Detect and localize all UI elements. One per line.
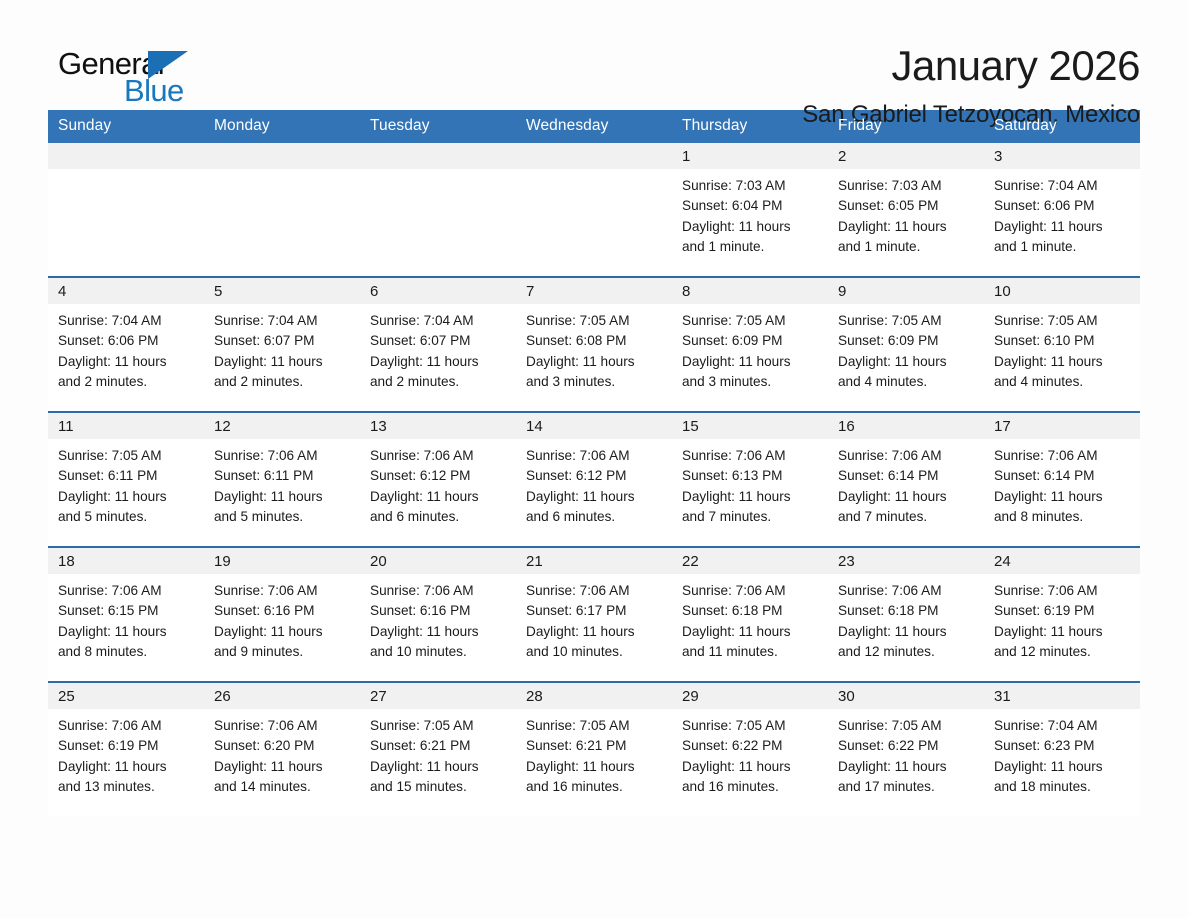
sunrise-time: Sunrise: 7:06 AM (214, 716, 352, 736)
daylight-duration-line2: and 12 minutes. (994, 642, 1132, 662)
calendar-day-cell[interactable]: 15Sunrise: 7:06 AMSunset: 6:13 PMDayligh… (672, 412, 828, 547)
day-details: Sunrise: 7:05 AMSunset: 6:10 PMDaylight:… (984, 304, 1140, 411)
daylight-duration-line2: and 11 minutes. (682, 642, 820, 662)
calendar-day-cell[interactable]: 10Sunrise: 7:05 AMSunset: 6:10 PMDayligh… (984, 277, 1140, 412)
weekday-header-monday: Monday (204, 110, 360, 143)
calendar-day-cell[interactable]: 14Sunrise: 7:06 AMSunset: 6:12 PMDayligh… (516, 412, 672, 547)
daylight-duration-line2: and 12 minutes. (838, 642, 976, 662)
daylight-duration-line1: Daylight: 11 hours (682, 217, 820, 237)
sunset-time: Sunset: 6:16 PM (370, 601, 508, 621)
day-number: 21 (516, 548, 672, 574)
sunrise-time: Sunrise: 7:05 AM (838, 311, 976, 331)
day-number: 22 (672, 548, 828, 574)
daylight-duration-line2: and 5 minutes. (214, 507, 352, 527)
day-details: Sunrise: 7:06 AMSunset: 6:15 PMDaylight:… (48, 574, 204, 681)
day-details: Sunrise: 7:06 AMSunset: 6:12 PMDaylight:… (516, 439, 672, 546)
day-number: 14 (516, 413, 672, 439)
sunset-time: Sunset: 6:20 PM (214, 736, 352, 756)
day-details: Sunrise: 7:05 AMSunset: 6:09 PMDaylight:… (828, 304, 984, 411)
daylight-duration-line1: Daylight: 11 hours (214, 757, 352, 777)
day-number: 17 (984, 413, 1140, 439)
sunset-time: Sunset: 6:07 PM (370, 331, 508, 351)
day-number: 26 (204, 683, 360, 709)
calendar-day-cell[interactable]: 12Sunrise: 7:06 AMSunset: 6:11 PMDayligh… (204, 412, 360, 547)
weekday-header-sunday: Sunday (48, 110, 204, 143)
calendar-day-cell[interactable]: 23Sunrise: 7:06 AMSunset: 6:18 PMDayligh… (828, 547, 984, 682)
day-number: 29 (672, 683, 828, 709)
day-details (360, 169, 516, 276)
day-details: Sunrise: 7:05 AMSunset: 6:22 PMDaylight:… (672, 709, 828, 816)
daylight-duration-line2: and 2 minutes. (214, 372, 352, 392)
daylight-duration-line2: and 10 minutes. (370, 642, 508, 662)
day-number: 16 (828, 413, 984, 439)
daylight-duration-line2: and 18 minutes. (994, 777, 1132, 797)
sunset-time: Sunset: 6:14 PM (994, 466, 1132, 486)
sunrise-time: Sunrise: 7:04 AM (58, 311, 196, 331)
day-number: 3 (984, 143, 1140, 169)
calendar-day-cell[interactable]: 30Sunrise: 7:05 AMSunset: 6:22 PMDayligh… (828, 682, 984, 816)
sunset-time: Sunset: 6:12 PM (526, 466, 664, 486)
calendar-day-cell[interactable]: 17Sunrise: 7:06 AMSunset: 6:14 PMDayligh… (984, 412, 1140, 547)
sunset-time: Sunset: 6:11 PM (214, 466, 352, 486)
day-details: Sunrise: 7:06 AMSunset: 6:19 PMDaylight:… (48, 709, 204, 816)
daylight-duration-line1: Daylight: 11 hours (370, 352, 508, 372)
day-details: Sunrise: 7:06 AMSunset: 6:18 PMDaylight:… (672, 574, 828, 681)
day-details: Sunrise: 7:04 AMSunset: 6:07 PMDaylight:… (204, 304, 360, 411)
day-number: 24 (984, 548, 1140, 574)
sunset-time: Sunset: 6:10 PM (994, 331, 1132, 351)
sunset-time: Sunset: 6:04 PM (682, 196, 820, 216)
sunrise-time: Sunrise: 7:06 AM (526, 446, 664, 466)
sunset-time: Sunset: 6:08 PM (526, 331, 664, 351)
calendar-body: 1Sunrise: 7:03 AMSunset: 6:04 PMDaylight… (48, 143, 1140, 816)
calendar-day-cell[interactable]: 31Sunrise: 7:04 AMSunset: 6:23 PMDayligh… (984, 682, 1140, 816)
daylight-duration-line1: Daylight: 11 hours (838, 757, 976, 777)
daylight-duration-line2: and 2 minutes. (58, 372, 196, 392)
day-number: 1 (672, 143, 828, 169)
sunrise-time: Sunrise: 7:06 AM (682, 581, 820, 601)
sunrise-time: Sunrise: 7:06 AM (214, 446, 352, 466)
sunrise-time: Sunrise: 7:05 AM (58, 446, 196, 466)
day-details: Sunrise: 7:06 AMSunset: 6:14 PMDaylight:… (828, 439, 984, 546)
daylight-duration-line1: Daylight: 11 hours (214, 487, 352, 507)
daylight-duration-line1: Daylight: 11 hours (994, 622, 1132, 642)
day-number: 18 (48, 548, 204, 574)
sunrise-time: Sunrise: 7:06 AM (682, 446, 820, 466)
daylight-duration-line2: and 15 minutes. (370, 777, 508, 797)
daylight-duration-line1: Daylight: 11 hours (838, 622, 976, 642)
daylight-duration-line1: Daylight: 11 hours (526, 757, 664, 777)
sunrise-time: Sunrise: 7:04 AM (370, 311, 508, 331)
daylight-duration-line2: and 6 minutes. (526, 507, 664, 527)
day-details: Sunrise: 7:05 AMSunset: 6:21 PMDaylight:… (516, 709, 672, 816)
day-details: Sunrise: 7:06 AMSunset: 6:16 PMDaylight:… (204, 574, 360, 681)
calendar-week-row: 4Sunrise: 7:04 AMSunset: 6:06 PMDaylight… (48, 277, 1140, 412)
sunset-time: Sunset: 6:07 PM (214, 331, 352, 351)
daylight-duration-line2: and 8 minutes. (58, 642, 196, 662)
sunrise-time: Sunrise: 7:05 AM (994, 311, 1132, 331)
day-number: 25 (48, 683, 204, 709)
day-details: Sunrise: 7:04 AMSunset: 6:23 PMDaylight:… (984, 709, 1140, 816)
sunrise-time: Sunrise: 7:04 AM (994, 716, 1132, 736)
sunrise-time: Sunrise: 7:03 AM (838, 176, 976, 196)
day-number: 28 (516, 683, 672, 709)
daylight-duration-line1: Daylight: 11 hours (370, 487, 508, 507)
day-number: 7 (516, 278, 672, 304)
calendar-day-cell[interactable]: 21Sunrise: 7:06 AMSunset: 6:17 PMDayligh… (516, 547, 672, 682)
calendar-day-cell[interactable]: 22Sunrise: 7:06 AMSunset: 6:18 PMDayligh… (672, 547, 828, 682)
daylight-duration-line2: and 17 minutes. (838, 777, 976, 797)
sunset-time: Sunset: 6:21 PM (526, 736, 664, 756)
daylight-duration-line1: Daylight: 11 hours (682, 352, 820, 372)
day-details: Sunrise: 7:05 AMSunset: 6:22 PMDaylight:… (828, 709, 984, 816)
calendar-page: General Blue January 2026 San Gabriel Te… (0, 0, 1188, 918)
sunset-time: Sunset: 6:13 PM (682, 466, 820, 486)
daylight-duration-line2: and 16 minutes. (682, 777, 820, 797)
daylight-duration-line1: Daylight: 11 hours (526, 487, 664, 507)
calendar-day-cell[interactable]: 7Sunrise: 7:05 AMSunset: 6:08 PMDaylight… (516, 277, 672, 412)
calendar-day-cell[interactable]: 25Sunrise: 7:06 AMSunset: 6:19 PMDayligh… (48, 682, 204, 816)
sunrise-time: Sunrise: 7:04 AM (994, 176, 1132, 196)
daylight-duration-line1: Daylight: 11 hours (58, 622, 196, 642)
daylight-duration-line1: Daylight: 11 hours (526, 622, 664, 642)
sunrise-time: Sunrise: 7:06 AM (838, 446, 976, 466)
day-details: Sunrise: 7:05 AMSunset: 6:21 PMDaylight:… (360, 709, 516, 816)
day-number: 11 (48, 413, 204, 439)
sunrise-time: Sunrise: 7:03 AM (682, 176, 820, 196)
daylight-duration-line2: and 7 minutes. (838, 507, 976, 527)
sunset-time: Sunset: 6:22 PM (682, 736, 820, 756)
daylight-duration-line2: and 3 minutes. (526, 372, 664, 392)
daylight-duration-line2: and 7 minutes. (682, 507, 820, 527)
daylight-duration-line1: Daylight: 11 hours (370, 757, 508, 777)
daylight-duration-line2: and 4 minutes. (838, 372, 976, 392)
calendar-week-row: 11Sunrise: 7:05 AMSunset: 6:11 PMDayligh… (48, 412, 1140, 547)
calendar-day-cell[interactable]: 1Sunrise: 7:03 AMSunset: 6:04 PMDaylight… (672, 143, 828, 277)
sunrise-time: Sunrise: 7:05 AM (526, 716, 664, 736)
sunrise-time: Sunrise: 7:06 AM (994, 581, 1132, 601)
sunset-time: Sunset: 6:21 PM (370, 736, 508, 756)
day-details: Sunrise: 7:03 AMSunset: 6:04 PMDaylight:… (672, 169, 828, 276)
day-details: Sunrise: 7:04 AMSunset: 6:06 PMDaylight:… (984, 169, 1140, 276)
calendar-day-cell[interactable]: 4Sunrise: 7:04 AMSunset: 6:06 PMDaylight… (48, 277, 204, 412)
sunrise-time: Sunrise: 7:06 AM (370, 581, 508, 601)
sunset-time: Sunset: 6:12 PM (370, 466, 508, 486)
calendar-week-row: 1Sunrise: 7:03 AMSunset: 6:04 PMDaylight… (48, 143, 1140, 277)
sunrise-time: Sunrise: 7:04 AM (214, 311, 352, 331)
daylight-duration-line1: Daylight: 11 hours (214, 622, 352, 642)
calendar-day-cell[interactable]: 5Sunrise: 7:04 AMSunset: 6:07 PMDaylight… (204, 277, 360, 412)
calendar-day-cell[interactable]: 26Sunrise: 7:06 AMSunset: 6:20 PMDayligh… (204, 682, 360, 816)
calendar-day-cell[interactable]: 13Sunrise: 7:06 AMSunset: 6:12 PMDayligh… (360, 412, 516, 547)
calendar-day-cell[interactable]: 24Sunrise: 7:06 AMSunset: 6:19 PMDayligh… (984, 547, 1140, 682)
calendar-day-cell[interactable]: 16Sunrise: 7:06 AMSunset: 6:14 PMDayligh… (828, 412, 984, 547)
day-number: 13 (360, 413, 516, 439)
day-details: Sunrise: 7:04 AMSunset: 6:07 PMDaylight:… (360, 304, 516, 411)
day-details: Sunrise: 7:05 AMSunset: 6:09 PMDaylight:… (672, 304, 828, 411)
daylight-duration-line1: Daylight: 11 hours (58, 352, 196, 372)
sunrise-time: Sunrise: 7:06 AM (526, 581, 664, 601)
daylight-duration-line1: Daylight: 11 hours (214, 352, 352, 372)
day-number (516, 143, 672, 169)
sunset-time: Sunset: 6:06 PM (994, 196, 1132, 216)
daylight-duration-line2: and 2 minutes. (370, 372, 508, 392)
daylight-duration-line1: Daylight: 11 hours (58, 487, 196, 507)
day-details (516, 169, 672, 276)
daylight-duration-line2: and 5 minutes. (58, 507, 196, 527)
daylight-duration-line1: Daylight: 11 hours (682, 622, 820, 642)
day-details: Sunrise: 7:06 AMSunset: 6:17 PMDaylight:… (516, 574, 672, 681)
sunset-time: Sunset: 6:09 PM (838, 331, 976, 351)
sunset-time: Sunset: 6:18 PM (838, 601, 976, 621)
day-number: 31 (984, 683, 1140, 709)
calendar-day-cell[interactable]: 3Sunrise: 7:04 AMSunset: 6:06 PMDaylight… (984, 143, 1140, 277)
daylight-duration-line2: and 10 minutes. (526, 642, 664, 662)
daylight-duration-line1: Daylight: 11 hours (994, 487, 1132, 507)
day-number: 10 (984, 278, 1140, 304)
sunset-time: Sunset: 6:23 PM (994, 736, 1132, 756)
day-details: Sunrise: 7:05 AMSunset: 6:11 PMDaylight:… (48, 439, 204, 546)
daylight-duration-line2: and 9 minutes. (214, 642, 352, 662)
sunset-time: Sunset: 6:15 PM (58, 601, 196, 621)
page-title: January 2026 (802, 44, 1140, 88)
day-details: Sunrise: 7:05 AMSunset: 6:08 PMDaylight:… (516, 304, 672, 411)
sunrise-time: Sunrise: 7:05 AM (682, 716, 820, 736)
day-number: 15 (672, 413, 828, 439)
calendar-day-cell[interactable]: 8Sunrise: 7:05 AMSunset: 6:09 PMDaylight… (672, 277, 828, 412)
sunrise-time: Sunrise: 7:06 AM (58, 581, 196, 601)
daylight-duration-line2: and 1 minute. (838, 237, 976, 257)
calendar-day-cell[interactable]: 11Sunrise: 7:05 AMSunset: 6:11 PMDayligh… (48, 412, 204, 547)
sunrise-time: Sunrise: 7:05 AM (838, 716, 976, 736)
daylight-duration-line2: and 6 minutes. (370, 507, 508, 527)
sunset-time: Sunset: 6:11 PM (58, 466, 196, 486)
logo-text-blue: Blue (124, 75, 184, 106)
sunrise-time: Sunrise: 7:06 AM (214, 581, 352, 601)
day-details: Sunrise: 7:06 AMSunset: 6:16 PMDaylight:… (360, 574, 516, 681)
day-details: Sunrise: 7:06 AMSunset: 6:13 PMDaylight:… (672, 439, 828, 546)
calendar-day-cell[interactable]: 2Sunrise: 7:03 AMSunset: 6:05 PMDaylight… (828, 143, 984, 277)
sunset-time: Sunset: 6:09 PM (682, 331, 820, 351)
sunrise-sunset-calendar: Sunday Monday Tuesday Wednesday Thursday… (48, 110, 1140, 816)
day-number (48, 143, 204, 169)
day-number: 9 (828, 278, 984, 304)
sunrise-time: Sunrise: 7:05 AM (682, 311, 820, 331)
sunrise-time: Sunrise: 7:06 AM (838, 581, 976, 601)
sunrise-time: Sunrise: 7:06 AM (370, 446, 508, 466)
calendar-day-cell-empty (360, 143, 516, 277)
daylight-duration-line1: Daylight: 11 hours (994, 757, 1132, 777)
day-details: Sunrise: 7:06 AMSunset: 6:12 PMDaylight:… (360, 439, 516, 546)
day-details: Sunrise: 7:06 AMSunset: 6:11 PMDaylight:… (204, 439, 360, 546)
daylight-duration-line2: and 4 minutes. (994, 372, 1132, 392)
daylight-duration-line2: and 14 minutes. (214, 777, 352, 797)
daylight-duration-line1: Daylight: 11 hours (838, 487, 976, 507)
page-header: General Blue January 2026 San Gabriel Te… (48, 0, 1140, 108)
daylight-duration-line1: Daylight: 11 hours (994, 352, 1132, 372)
day-number: 2 (828, 143, 984, 169)
day-details: Sunrise: 7:06 AMSunset: 6:20 PMDaylight:… (204, 709, 360, 816)
daylight-duration-line1: Daylight: 11 hours (994, 217, 1132, 237)
daylight-duration-line1: Daylight: 11 hours (370, 622, 508, 642)
day-number: 20 (360, 548, 516, 574)
day-number: 8 (672, 278, 828, 304)
calendar-day-cell[interactable]: 20Sunrise: 7:06 AMSunset: 6:16 PMDayligh… (360, 547, 516, 682)
calendar-day-cell[interactable]: 18Sunrise: 7:06 AMSunset: 6:15 PMDayligh… (48, 547, 204, 682)
calendar-week-row: 25Sunrise: 7:06 AMSunset: 6:19 PMDayligh… (48, 682, 1140, 816)
calendar-day-cell[interactable]: 27Sunrise: 7:05 AMSunset: 6:21 PMDayligh… (360, 682, 516, 816)
sunset-time: Sunset: 6:05 PM (838, 196, 976, 216)
generalblue-logo[interactable]: General Blue (48, 44, 208, 114)
sunset-time: Sunset: 6:22 PM (838, 736, 976, 756)
weekday-header-wednesday: Wednesday (516, 110, 672, 143)
sunrise-time: Sunrise: 7:06 AM (994, 446, 1132, 466)
daylight-duration-line2: and 3 minutes. (682, 372, 820, 392)
sunset-time: Sunset: 6:06 PM (58, 331, 196, 351)
calendar-day-cell-empty (48, 143, 204, 277)
day-details (204, 169, 360, 276)
sunset-time: Sunset: 6:17 PM (526, 601, 664, 621)
calendar-week-row: 18Sunrise: 7:06 AMSunset: 6:15 PMDayligh… (48, 547, 1140, 682)
day-number: 4 (48, 278, 204, 304)
sunset-time: Sunset: 6:19 PM (994, 601, 1132, 621)
daylight-duration-line1: Daylight: 11 hours (58, 757, 196, 777)
sunrise-time: Sunrise: 7:05 AM (370, 716, 508, 736)
daylight-duration-line2: and 13 minutes. (58, 777, 196, 797)
calendar-day-cell-empty (204, 143, 360, 277)
calendar-day-cell[interactable]: 9Sunrise: 7:05 AMSunset: 6:09 PMDaylight… (828, 277, 984, 412)
day-details (48, 169, 204, 276)
daylight-duration-line1: Daylight: 11 hours (682, 487, 820, 507)
day-number: 6 (360, 278, 516, 304)
calendar-day-cell[interactable]: 6Sunrise: 7:04 AMSunset: 6:07 PMDaylight… (360, 277, 516, 412)
sunset-time: Sunset: 6:16 PM (214, 601, 352, 621)
daylight-duration-line2: and 16 minutes. (526, 777, 664, 797)
daylight-duration-line2: and 1 minute. (994, 237, 1132, 257)
daylight-duration-line2: and 8 minutes. (994, 507, 1132, 527)
day-details: Sunrise: 7:06 AMSunset: 6:19 PMDaylight:… (984, 574, 1140, 681)
calendar-day-cell-empty (516, 143, 672, 277)
day-number: 23 (828, 548, 984, 574)
day-number: 5 (204, 278, 360, 304)
daylight-duration-line2: and 1 minute. (682, 237, 820, 257)
sunrise-time: Sunrise: 7:05 AM (526, 311, 664, 331)
daylight-duration-line1: Daylight: 11 hours (838, 352, 976, 372)
daylight-duration-line1: Daylight: 11 hours (838, 217, 976, 237)
sunset-time: Sunset: 6:14 PM (838, 466, 976, 486)
day-details: Sunrise: 7:03 AMSunset: 6:05 PMDaylight:… (828, 169, 984, 276)
day-number (204, 143, 360, 169)
daylight-duration-line1: Daylight: 11 hours (526, 352, 664, 372)
calendar-day-cell[interactable]: 29Sunrise: 7:05 AMSunset: 6:22 PMDayligh… (672, 682, 828, 816)
day-number: 30 (828, 683, 984, 709)
sunset-time: Sunset: 6:19 PM (58, 736, 196, 756)
daylight-duration-line1: Daylight: 11 hours (682, 757, 820, 777)
day-number: 27 (360, 683, 516, 709)
day-details: Sunrise: 7:04 AMSunset: 6:06 PMDaylight:… (48, 304, 204, 411)
calendar-day-cell[interactable]: 28Sunrise: 7:05 AMSunset: 6:21 PMDayligh… (516, 682, 672, 816)
day-details: Sunrise: 7:06 AMSunset: 6:18 PMDaylight:… (828, 574, 984, 681)
calendar-day-cell[interactable]: 19Sunrise: 7:06 AMSunset: 6:16 PMDayligh… (204, 547, 360, 682)
sunrise-time: Sunrise: 7:06 AM (58, 716, 196, 736)
day-number: 12 (204, 413, 360, 439)
day-details: Sunrise: 7:06 AMSunset: 6:14 PMDaylight:… (984, 439, 1140, 546)
sunset-time: Sunset: 6:18 PM (682, 601, 820, 621)
day-number (360, 143, 516, 169)
weekday-header-tuesday: Tuesday (360, 110, 516, 143)
day-number: 19 (204, 548, 360, 574)
